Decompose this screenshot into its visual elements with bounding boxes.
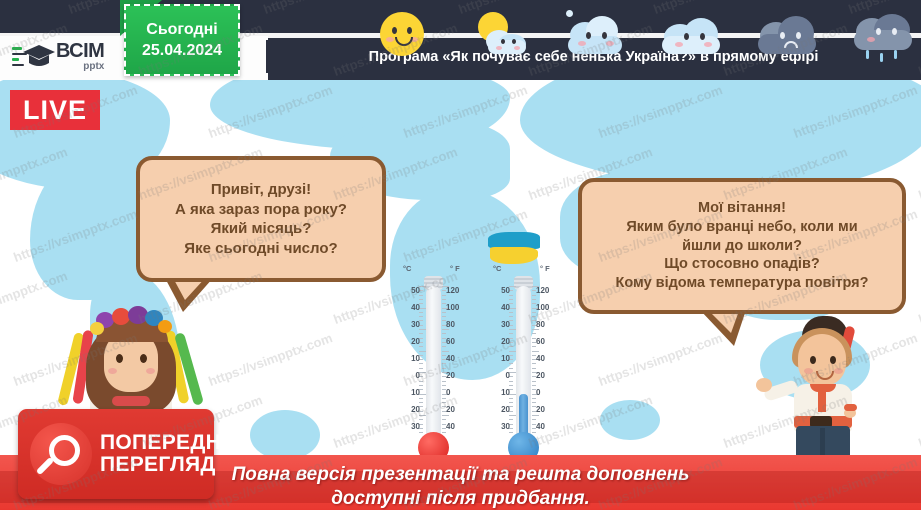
- speech-bubble-right: Мої вітання! Яким було вранці небо, коли…: [578, 178, 906, 314]
- preview-badge[interactable]: ПОПЕРЕДНІЙ ПЕРЕГЛЯД: [18, 409, 214, 499]
- bubble-right-line-4: Кому відома температура повітря?: [616, 274, 869, 293]
- bubble-right-line-2: йшли до школи?: [682, 237, 802, 256]
- preview-badge-line1: ПОПЕРЕДНІЙ: [100, 432, 243, 454]
- fahrenheit-unit-label: ° F: [540, 264, 550, 273]
- girl-character: [60, 296, 200, 426]
- today-date: 25.04.2024: [142, 42, 222, 60]
- thermometer-right: °C ° F 50403020100102030 120100806040200…: [488, 264, 563, 464]
- brand-logo[interactable]: ВСІМ pptx: [12, 36, 124, 76]
- fahrenheit-scale: 1201008060402002040: [446, 286, 468, 439]
- today-date-card: Сьогодні 25.04.2024: [124, 4, 240, 76]
- boy-character: [766, 312, 886, 462]
- live-badge: LIVE: [10, 90, 100, 130]
- logo-sub-text: pptx: [83, 62, 104, 72]
- celsius-scale: 50403020100102030: [400, 286, 420, 439]
- bottom-banner-line2: доступні після придбання.: [331, 487, 590, 510]
- tick-marks-celsius: [509, 286, 516, 438]
- fahrenheit-unit-label: ° F: [450, 264, 460, 273]
- bubble-right-line-3: Що стосовно опадів?: [664, 255, 819, 274]
- bubble-left-line-2: Який місяць?: [211, 219, 312, 239]
- light-cloud-icon: [564, 6, 630, 62]
- live-badge-text: LIVE: [23, 95, 87, 126]
- graduation-cap-icon: [12, 41, 52, 71]
- celsius-scale: 50403020100102030: [490, 286, 510, 439]
- bubble-left-line-3: Яке сьогодні число?: [184, 239, 337, 259]
- bubble-left-line-0: Привіт, друзі!: [211, 180, 311, 200]
- celsius-unit-label: °C: [493, 264, 501, 273]
- bubble-right-line-1: Яким було вранці небо, коли ми: [626, 218, 857, 237]
- tick-marks-celsius: [419, 286, 426, 438]
- sun-icon: [372, 6, 438, 62]
- today-label: Сьогодні: [146, 21, 217, 39]
- fahrenheit-scale: 1201008060402002040: [536, 286, 558, 439]
- preview-badge-line2: ПЕРЕГЛЯД: [100, 454, 243, 476]
- celsius-unit-label: °C: [403, 264, 411, 273]
- logo-main-text: ВСІМ: [56, 41, 104, 61]
- speech-bubble-left: Привіт, друзі! А яка зараз пора року? Як…: [136, 156, 386, 282]
- cloud-icon: [660, 6, 726, 62]
- bubble-right-line-0: Мої вітання!: [698, 199, 786, 218]
- bottom-banner-line1: Повна версія презентації та решта доповн…: [232, 463, 690, 486]
- magnifier-icon: [30, 423, 92, 485]
- thermometer-left: °C ° F 50403020100102030 120100806040200…: [398, 264, 473, 464]
- slide-root: °C ° F 50403020100102030 120100806040200…: [0, 0, 921, 518]
- dark-cloud-icon: [756, 6, 822, 62]
- weather-icon-row: [372, 6, 912, 62]
- sun-behind-cloud-icon: [468, 6, 534, 62]
- bottom-white-strip: [0, 510, 921, 518]
- ukraine-flag-marker: [488, 232, 540, 266]
- bubble-left-line-1: А яка зараз пора року?: [175, 200, 347, 220]
- rain-cloud-icon: [852, 6, 918, 62]
